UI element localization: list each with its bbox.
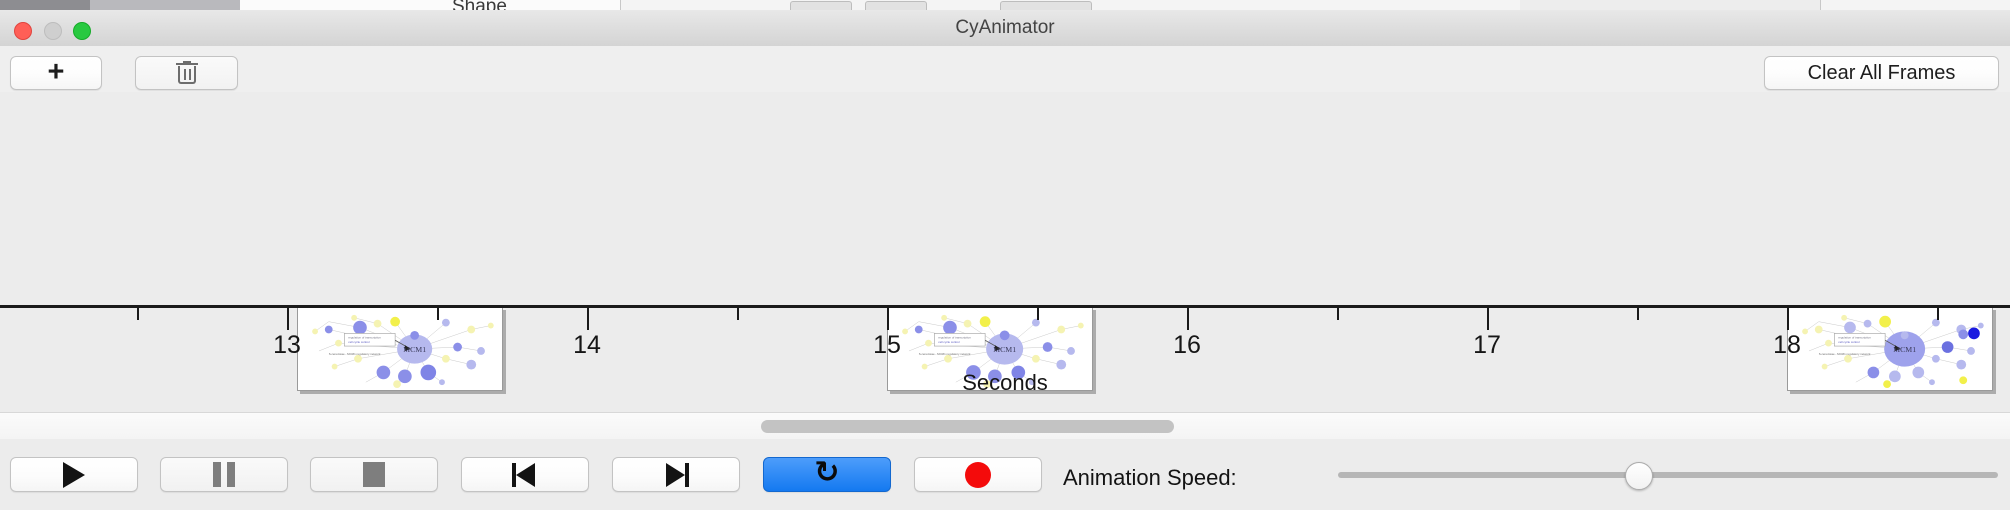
svg-text:S.cerevisiae - MCM1 regulatory: S.cerevisiae - MCM1 regulatory network (919, 352, 971, 356)
skip-to-start-icon (512, 462, 538, 488)
tick-label: 13 (273, 331, 301, 360)
stop-button[interactable] (310, 457, 438, 492)
skip-to-start-button[interactable] (461, 457, 589, 492)
timeline-panel[interactable]: regulation of transcription cell cycle c… (0, 92, 2010, 412)
loop-icon: ↻ (814, 458, 839, 488)
trash-icon (176, 61, 198, 85)
svg-text:cell cycle control: cell cycle control (1838, 340, 1860, 344)
animation-speed-slider-thumb[interactable] (1625, 462, 1653, 490)
hub-node-label: MCM1 (403, 345, 426, 354)
record-button[interactable] (914, 457, 1042, 492)
hub-node-label: MCM1 (1893, 345, 1916, 354)
tick-major (1487, 308, 1489, 330)
tick-label: 18 (1773, 331, 1801, 360)
skip-to-end-icon (663, 462, 689, 488)
tick-major (1187, 308, 1189, 330)
tick-major (587, 308, 589, 330)
svg-text:regulation of transcription: regulation of transcription (1838, 335, 1871, 339)
tick-label: 12 (0, 331, 1, 360)
title-bar: CyAnimator (0, 10, 2010, 47)
timeline-ruler-line (0, 305, 2010, 308)
clear-all-frames-button[interactable]: Clear All Frames (1764, 56, 1999, 90)
tick-minor (1337, 308, 1339, 320)
svg-text:regulation of transcription: regulation of transcription (348, 335, 381, 339)
pause-icon (213, 462, 235, 487)
tick-major (887, 308, 889, 330)
tick-label: 16 (1173, 331, 1201, 360)
tick-minor (137, 308, 139, 320)
tick-label: 14 (573, 331, 601, 360)
tick-minor (1937, 308, 1939, 320)
plus-icon: + (48, 58, 65, 87)
clear-all-frames-label: Clear All Frames (1808, 62, 1956, 85)
svg-text:cell cycle control: cell cycle control (938, 340, 960, 344)
window-title: CyAnimator (0, 10, 2010, 46)
svg-text:S.cerevisiae - MCM1 regulatory: S.cerevisiae - MCM1 regulatory network (329, 352, 381, 356)
animation-speed-label: Animation Speed: (1063, 465, 1237, 491)
pause-button[interactable] (160, 457, 288, 492)
tick-label: 15 (873, 331, 901, 360)
svg-text:regulation of transcription: regulation of transcription (938, 335, 971, 339)
record-icon (965, 462, 991, 488)
playback-bar: ↻ Animation Speed: (0, 439, 2010, 510)
hub-node-label: MCM1 (993, 345, 1016, 354)
play-icon (63, 462, 85, 488)
loop-button[interactable]: ↻ (763, 457, 891, 492)
delete-frame-button[interactable] (135, 56, 238, 90)
svg-text:cell cycle control: cell cycle control (348, 340, 370, 344)
play-button[interactable] (10, 457, 138, 492)
cyanimator-window: Shape CyAnimator + Clear All Frames (0, 0, 2010, 510)
tick-minor (437, 308, 439, 320)
tick-label: 17 (1473, 331, 1501, 360)
skip-to-end-button[interactable] (612, 457, 740, 492)
tick-minor (1037, 308, 1039, 320)
scrollbar-thumb[interactable] (761, 420, 1174, 433)
axis-title-seconds: Seconds (0, 370, 2010, 396)
tick-minor (1637, 308, 1639, 320)
stop-icon (363, 462, 385, 487)
tick-major (287, 308, 289, 330)
add-frame-button[interactable]: + (10, 56, 102, 90)
timeline-scrollbar[interactable] (0, 412, 2010, 440)
tick-major (1787, 308, 1789, 330)
svg-text:S.cerevisiae - MCM1 regulatory: S.cerevisiae - MCM1 regulatory network (1819, 352, 1871, 356)
tick-minor (737, 308, 739, 320)
toolbar (0, 46, 2010, 93)
animation-speed-slider-track[interactable] (1338, 472, 1998, 478)
